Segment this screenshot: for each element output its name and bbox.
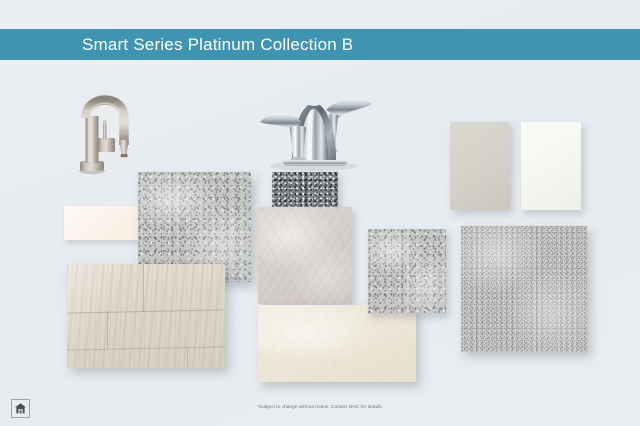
kitchen-faucet-image <box>68 82 140 176</box>
swatch-flooring-light-oak[interactable] <box>67 264 225 368</box>
swatch-paint-warm-gray[interactable] <box>450 122 510 210</box>
equal-housing-opportunity-icon <box>11 399 30 418</box>
swatch-paint-bright-white[interactable] <box>521 122 581 210</box>
lavatory-faucet-image <box>252 82 376 174</box>
header-banner: Smart Series Platinum Collection B <box>0 29 640 60</box>
swatch-tile-greige[interactable] <box>258 207 352 304</box>
lavatory-faucet-icon <box>252 82 376 174</box>
page-title: Smart Series Platinum Collection B <box>82 36 353 53</box>
kitchen-faucet-icon <box>68 82 140 176</box>
swatch-countertop-platinum-granite[interactable] <box>461 226 587 352</box>
footer-disclaimer: *Subject to change without notice. Conta… <box>0 404 640 409</box>
selection-board: Smart Series Platinum Collection B <box>0 0 640 426</box>
swatch-countertop-medium-granite[interactable] <box>368 229 446 314</box>
swatch-tile-cream[interactable] <box>258 305 416 382</box>
